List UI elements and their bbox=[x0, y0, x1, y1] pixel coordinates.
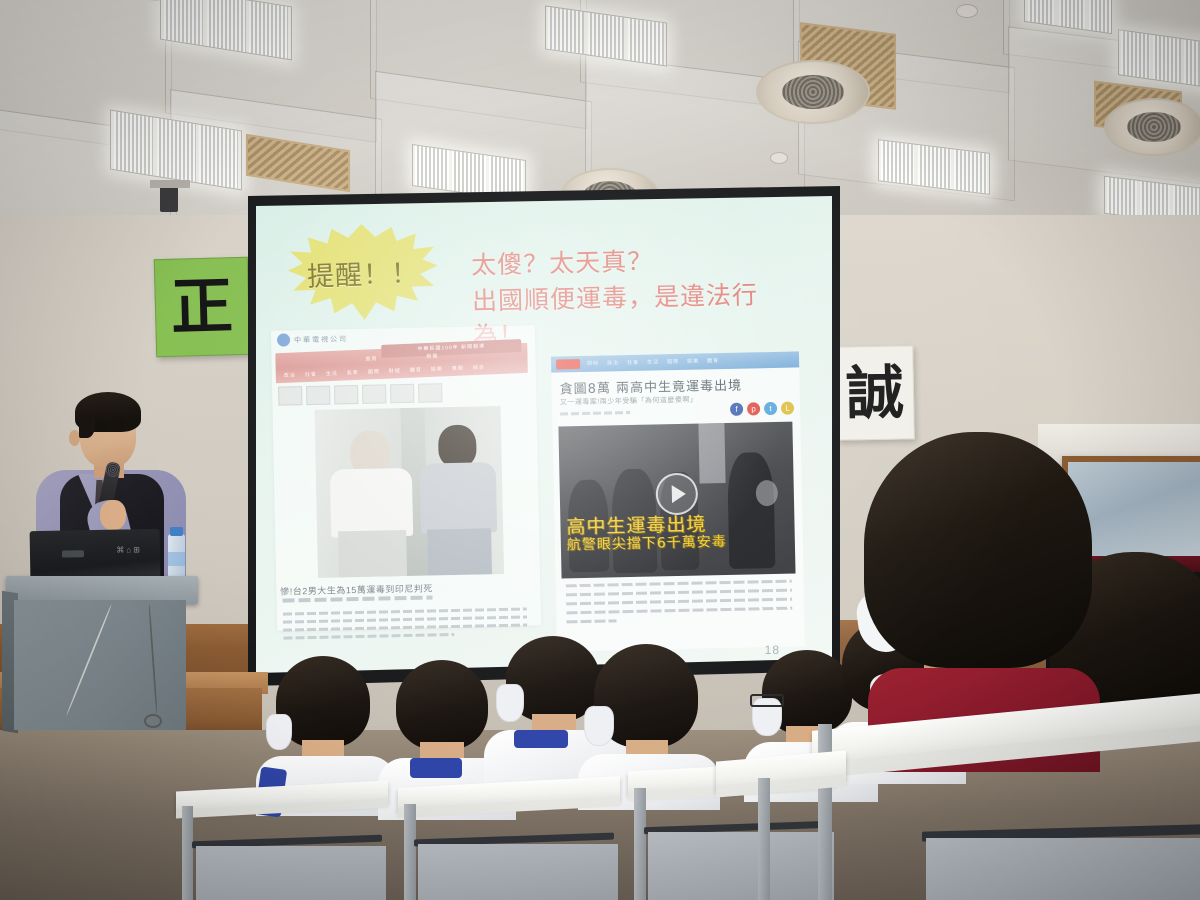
logo-mark-icon bbox=[277, 333, 290, 346]
classroom-photo: 正 誠 提醒！！ 太傻？太天真？ 出國順便運毒，是違法行為！ 中華電視公司 中華… bbox=[0, 0, 1200, 900]
nav-item: 專題 bbox=[452, 364, 464, 372]
news-headline-left: 慘!台2男大生為15萬運毒到印尼判死 bbox=[280, 579, 530, 597]
news-photo-suspects bbox=[315, 406, 504, 578]
bottle-label bbox=[168, 552, 185, 566]
line-icon: L bbox=[781, 402, 794, 415]
laptop-brand-label: ⌘⌂⊞ bbox=[116, 545, 142, 554]
nav-item: 財經 bbox=[389, 367, 401, 375]
nav-item: 國際 bbox=[368, 368, 380, 376]
nav-item: 氣象 bbox=[347, 369, 359, 377]
nav-item: 體育 bbox=[410, 366, 422, 374]
presenter-hair bbox=[75, 392, 141, 432]
pinterest-icon: p bbox=[747, 402, 760, 415]
nav-item: 首頁 bbox=[365, 355, 377, 363]
thumbnail bbox=[334, 385, 358, 404]
thumbnail bbox=[418, 383, 442, 402]
ceiling-fan bbox=[1104, 98, 1200, 156]
news-logo-icon bbox=[556, 359, 580, 370]
thumbnail bbox=[390, 384, 414, 403]
uniform-collar bbox=[410, 758, 462, 778]
menu-item: 娛樂 bbox=[687, 358, 699, 365]
facebook-icon: f bbox=[730, 403, 743, 416]
student-hair bbox=[396, 660, 488, 750]
nav-item: 新聞 bbox=[426, 353, 438, 361]
starburst-label: 提醒！！ bbox=[306, 251, 419, 294]
news-body-text bbox=[566, 580, 793, 630]
news-body-text bbox=[283, 607, 528, 644]
menu-item: 即時 bbox=[587, 360, 599, 367]
face-mask bbox=[266, 714, 292, 750]
news-menu: 即時 政治 社會 生活 國際 娛樂 體育 bbox=[587, 357, 719, 367]
twitter-icon: t bbox=[764, 402, 777, 415]
face-mask bbox=[496, 684, 524, 722]
water-bottle bbox=[168, 534, 185, 580]
starburst-badge: 提醒！！ bbox=[286, 221, 439, 322]
menu-item: 體育 bbox=[707, 357, 719, 364]
bottle-cap bbox=[170, 527, 183, 536]
presenter-hand bbox=[100, 500, 126, 530]
eyeglasses bbox=[750, 694, 784, 707]
news-thumbnail-strip bbox=[278, 383, 442, 405]
thumbnail bbox=[278, 386, 302, 405]
news-video-thumbnail: 高中生運毒出境 航警眼尖擋下6千萬安毒 bbox=[558, 422, 795, 579]
wall-poster-zheng: 正 bbox=[154, 257, 251, 357]
laptop: ⌘⌂⊞ bbox=[30, 529, 161, 579]
lectern-body bbox=[14, 600, 186, 730]
nav-item: 生活 bbox=[326, 370, 338, 378]
poster-character-cheng: 誠 bbox=[845, 363, 904, 422]
news-nav-row-2: 政治 社會 生活 氣象 國際 財經 體育 娛樂 專題 綜合 bbox=[284, 362, 524, 379]
smoke-detector-icon bbox=[956, 4, 978, 18]
news-timestamp bbox=[560, 411, 630, 415]
nav-item: 娛樂 bbox=[431, 365, 443, 373]
uniform-collar bbox=[514, 730, 568, 748]
nav-item: 綜合 bbox=[473, 364, 485, 372]
menu-item: 社會 bbox=[627, 359, 639, 366]
news-clipping-left: 中華電視公司 中華民國109年 新聞報導 首頁 新聞 政治 社會 生活 氣象 國… bbox=[271, 325, 541, 630]
menu-item: 國際 bbox=[667, 358, 679, 365]
news-site-logo: 中華電視公司 bbox=[277, 330, 387, 347]
video-overlay-line-2: 航警眼尖擋下6千萬安毒 bbox=[567, 531, 727, 554]
poster-character-zheng: 正 bbox=[170, 275, 234, 339]
wall-poster-cheng: 誠 bbox=[835, 345, 915, 440]
news-clipping-right: 即時 政治 社會 生活 國際 娛樂 體育 貪圖8萬 兩高中生竟運毒出境 又一運毒… bbox=[551, 351, 805, 651]
news-nav-bar: 中華民國109年 新聞報導 首頁 新聞 政治 社會 生活 氣象 國際 財經 體育… bbox=[275, 343, 527, 384]
social-share-icons: f p t L bbox=[730, 402, 794, 416]
news-site-bar: 即時 政治 社會 生活 國際 娛樂 體育 bbox=[551, 351, 799, 372]
projector-mount bbox=[160, 186, 178, 212]
thumbnail bbox=[306, 386, 330, 405]
nav-item: 政治 bbox=[284, 372, 296, 380]
thumbnail bbox=[362, 384, 386, 403]
face-mask bbox=[584, 706, 614, 746]
menu-item: 政治 bbox=[607, 359, 619, 366]
cable-coil bbox=[144, 714, 162, 728]
projector-bracket bbox=[150, 180, 190, 188]
presentation-slide: 提醒！！ 太傻？太天真？ 出國順便運毒，是違法行為！ 中華電視公司 中華民國10… bbox=[256, 196, 832, 673]
smoke-detector-icon bbox=[770, 152, 788, 164]
nav-item: 社會 bbox=[305, 371, 317, 379]
menu-item: 生活 bbox=[647, 358, 659, 365]
laptop-trackpad bbox=[62, 550, 84, 557]
news-site-name: 中華電視公司 bbox=[294, 334, 348, 345]
ceiling-fan bbox=[756, 60, 870, 124]
person-hair bbox=[864, 432, 1092, 668]
